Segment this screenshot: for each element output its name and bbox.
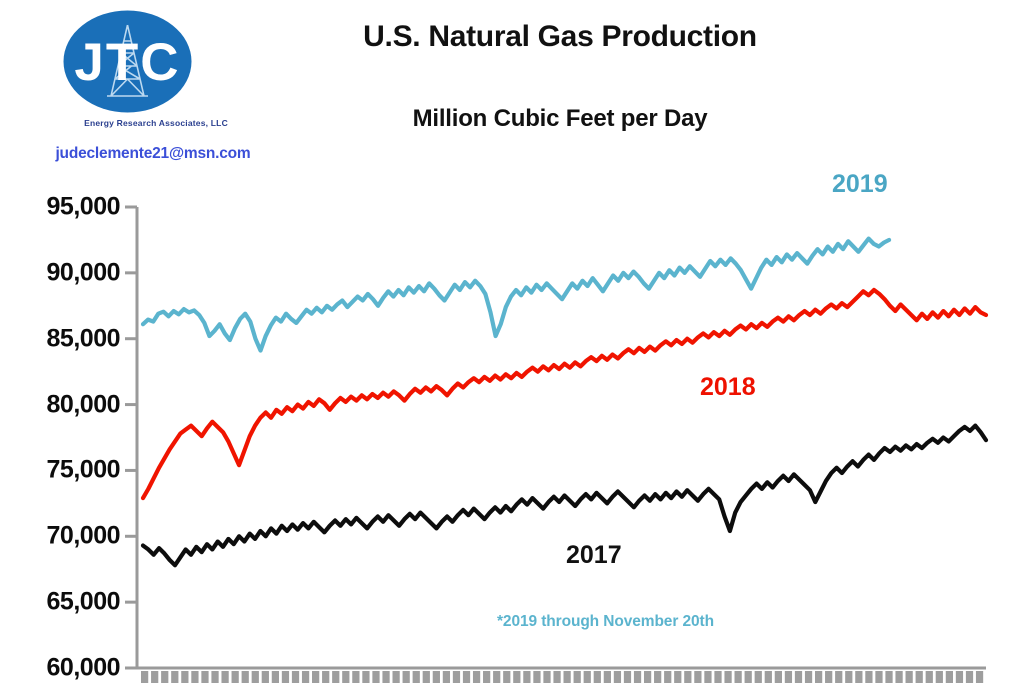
x-axis-tick (825, 671, 832, 683)
x-axis-tick (745, 671, 752, 683)
x-axis-tick (382, 671, 389, 683)
x-axis-tick (282, 671, 289, 683)
x-axis-tick (302, 671, 309, 683)
x-axis-tick (352, 671, 359, 683)
x-axis-tick (433, 671, 440, 683)
x-axis-tick (242, 671, 249, 683)
x-axis-tick (201, 671, 208, 683)
x-axis-tick (835, 671, 842, 683)
x-axis-tick (523, 671, 530, 683)
chart-page: JTC Energy Research Associates, LLC jude… (0, 0, 1024, 694)
x-axis-tick (714, 671, 721, 683)
x-axis-tick (211, 671, 218, 683)
x-axis-tick (574, 671, 581, 683)
x-axis-tick (221, 671, 228, 683)
x-axis-tick (584, 671, 591, 683)
x-axis-tick (272, 671, 279, 683)
x-axis-tick (533, 671, 540, 683)
series-label-2018: 2018 (700, 373, 756, 402)
x-axis-tick (614, 671, 621, 683)
x-axis-tick (694, 671, 701, 683)
x-axis-tick (916, 671, 923, 683)
x-axis-tick (161, 671, 168, 683)
x-axis-tick-band (141, 671, 983, 683)
x-axis-tick (262, 671, 269, 683)
series-group (143, 239, 986, 566)
x-axis-tick (413, 671, 420, 683)
x-axis-tick (845, 671, 852, 683)
chart-footnote: *2019 through November 20th (497, 613, 714, 631)
x-axis-tick (403, 671, 410, 683)
x-axis-tick (885, 671, 892, 683)
x-axis-tick (543, 671, 550, 683)
x-axis-tick (191, 671, 198, 683)
x-axis-tick (815, 671, 822, 683)
x-axis-tick (141, 671, 148, 683)
x-axis-tick (735, 671, 742, 683)
x-axis-tick (755, 671, 762, 683)
x-axis-tick (895, 671, 902, 683)
series-line-2019 (143, 239, 889, 351)
x-axis-tick (151, 671, 158, 683)
x-axis-tick (453, 671, 460, 683)
x-axis-tick (322, 671, 329, 683)
x-axis-tick (966, 671, 973, 683)
axis-group (125, 207, 986, 668)
x-axis-tick (252, 671, 259, 683)
x-axis-tick (483, 671, 490, 683)
x-axis-tick (564, 671, 571, 683)
x-axis-tick (463, 671, 470, 683)
x-axis-tick (785, 671, 792, 683)
x-axis-tick (775, 671, 782, 683)
x-axis-tick (423, 671, 430, 683)
line-chart-plot (0, 0, 1024, 694)
x-axis-tick (493, 671, 500, 683)
x-axis-tick (634, 671, 641, 683)
x-axis-tick (372, 671, 379, 683)
x-axis-tick (473, 671, 480, 683)
x-axis-tick (946, 671, 953, 683)
x-axis-tick (855, 671, 862, 683)
x-axis-tick (342, 671, 349, 683)
x-axis-tick (865, 671, 872, 683)
x-axis-tick (553, 671, 560, 683)
x-axis-tick (181, 671, 188, 683)
x-axis-tick (664, 671, 671, 683)
x-axis-tick (674, 671, 681, 683)
x-axis-tick (956, 671, 963, 683)
x-axis-tick (171, 671, 178, 683)
x-axis-tick (312, 671, 319, 683)
x-axis-tick (704, 671, 711, 683)
x-axis-tick (594, 671, 601, 683)
x-axis-tick (936, 671, 943, 683)
x-axis-tick (624, 671, 631, 683)
series-label-2017: 2017 (566, 541, 622, 570)
series-line-2017 (143, 426, 986, 566)
x-axis-tick (292, 671, 299, 683)
x-axis-tick (232, 671, 239, 683)
x-axis-tick (906, 671, 913, 683)
x-axis-tick (604, 671, 611, 683)
x-axis-tick (684, 671, 691, 683)
x-axis-tick (443, 671, 450, 683)
x-axis-tick (805, 671, 812, 683)
x-axis-tick (503, 671, 510, 683)
series-label-2019: 2019 (832, 170, 888, 199)
x-axis-tick (765, 671, 772, 683)
x-axis-tick (362, 671, 369, 683)
x-axis-tick (654, 671, 661, 683)
x-axis-tick (926, 671, 933, 683)
x-axis-tick (724, 671, 731, 683)
x-axis-tick (976, 671, 983, 683)
x-axis-tick (513, 671, 520, 683)
x-axis-tick (795, 671, 802, 683)
x-axis-tick (392, 671, 399, 683)
x-axis-tick (875, 671, 882, 683)
x-axis-tick (332, 671, 339, 683)
x-axis-tick (644, 671, 651, 683)
